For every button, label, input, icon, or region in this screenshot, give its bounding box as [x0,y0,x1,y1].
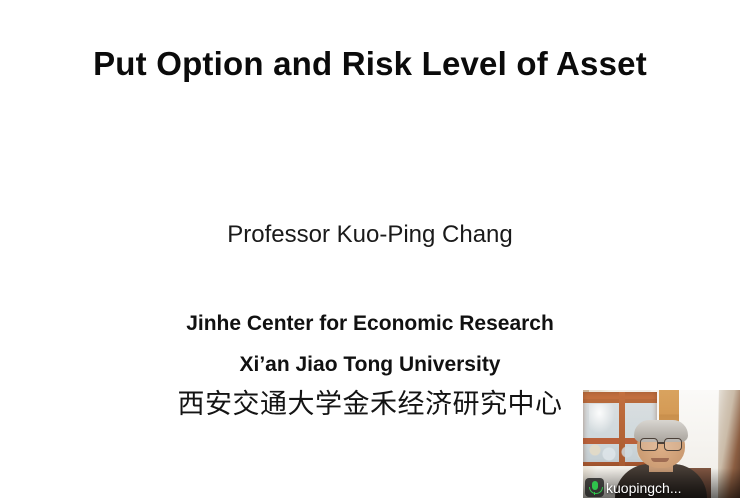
slide-title: Put Option and Risk Level of Asset [0,44,740,84]
glasses-lens-left [640,438,658,451]
participant-glasses [640,438,682,450]
presentation-slide: Put Option and Risk Level of Asset Profe… [0,0,740,498]
affiliation-line-center: Jinhe Center for Economic Research [0,303,740,344]
presenter-name: Professor Kuo-Ping Chang [0,220,740,250]
participant-video-tile[interactable]: kuopingch... [583,390,740,498]
participant-mouth [651,458,669,462]
participant-name-badge: kuopingch... [585,478,682,497]
glasses-lens-right [664,438,682,451]
affiliation-line-university: Xi’an Jiao Tong University [0,344,740,385]
microphone-stand [589,487,603,494]
microphone-post [594,492,596,495]
microphone-icon[interactable] [585,478,604,497]
participant-name-label: kuopingch... [606,480,682,496]
